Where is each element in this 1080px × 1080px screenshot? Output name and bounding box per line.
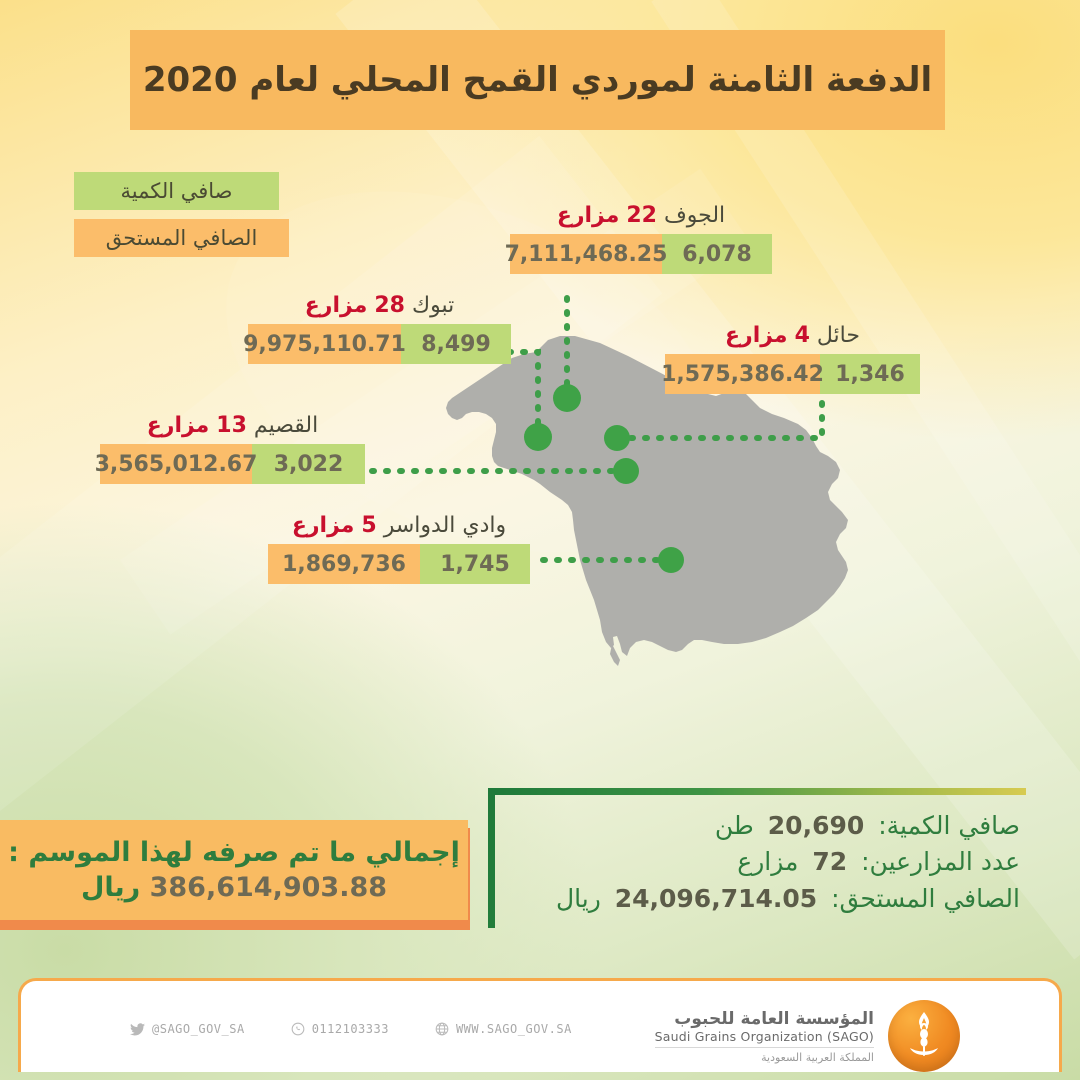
region-name: حائل	[817, 323, 860, 348]
region-bars: 3,022 3,565,012.67	[100, 444, 365, 484]
connector-tabuk	[510, 352, 538, 437]
region-net-due: 9,975,110.71	[248, 324, 401, 364]
twitter-icon	[130, 1023, 145, 1036]
region-net-due: 1,869,736	[268, 544, 420, 584]
region-farms-count: 22	[626, 203, 657, 228]
map-dot-jouf	[553, 384, 581, 412]
phone-number: 0112103333	[312, 1022, 389, 1036]
region-farms-count: 13	[216, 413, 247, 438]
summary-due-label: الصافي المستحق:	[831, 884, 1020, 913]
summary-row-due: الصافي المستحق: 24,096,714.05 ريال	[556, 881, 1020, 917]
website-url: WWW.SAGO_GOV.SA	[456, 1022, 572, 1036]
sago-logo: المؤسسة العامة للحبوب Saudi Grains Organ…	[655, 1000, 960, 1072]
season-total-label: إجمالي ما تم صرفه لهذا الموسم :	[8, 837, 460, 868]
region-farms-count: 28	[374, 293, 405, 318]
region-farms-count: 4	[795, 323, 810, 348]
map-dot-qassim	[613, 458, 639, 484]
summary-quantity-value: 20,690	[768, 811, 864, 840]
region-net-quantity: 1,346	[820, 354, 920, 394]
region-card-tabuk: تبوك 28 مزارع 8,499 9,975,110.71	[248, 293, 511, 364]
region-name: الجوف	[664, 203, 725, 228]
summary-row-quantity: صافي الكمية: 20,690 طن	[556, 808, 1020, 844]
region-farms-word: مزارع	[292, 513, 355, 538]
region-card-wadi-aldawasir: وادي الدواسر 5 مزارع 1,745 1,869,736	[268, 513, 530, 584]
region-label-qassim: القصيم 13 مزارع	[100, 413, 365, 438]
summary-due-value: 24,096,714.05	[615, 884, 817, 913]
region-label-wadi-aldawasir: وادي الدواسر 5 مزارع	[268, 513, 530, 538]
region-net-quantity: 3,022	[252, 444, 365, 484]
region-label-jouf: الجوف 22 مزارع	[510, 203, 772, 228]
region-label-tabuk: تبوك 28 مزارع	[248, 293, 511, 318]
region-net-due: 3,565,012.67	[100, 444, 252, 484]
region-bars: 1,745 1,869,736	[268, 544, 530, 584]
region-card-jouf: الجوف 22 مزارع 6,078 7,111,468.25	[510, 203, 772, 274]
sago-country: المملكة العربية السعودية	[655, 1047, 874, 1064]
region-net-quantity: 6,078	[662, 234, 772, 274]
region-label-hail: حائل 4 مزارع	[665, 323, 920, 348]
region-net-due: 7,111,468.25	[510, 234, 662, 274]
footer-contacts: @SAGO_GOV_SA 0112103333 WWW.SAGO_GOV.SA	[130, 1022, 572, 1036]
legend: صافي الكمية الصافي المستحق	[74, 172, 289, 257]
map-dots	[524, 384, 684, 573]
season-total-value-row: 386,614,903.88 ريال	[81, 872, 387, 903]
season-total-currency: ريال	[81, 872, 140, 903]
region-bars: 8,499 9,975,110.71	[248, 324, 511, 364]
summary-row-farmers: عدد المزارعين: 72 مزارع	[556, 844, 1020, 880]
summary-farmers-label: عدد المزارعين:	[861, 847, 1020, 876]
infographic-poster: الدفعة الثامنة لموردي القمح المحلي لعام …	[0, 0, 1080, 1080]
summary-farmers-value: 72	[812, 847, 847, 876]
twitter-handle: @SAGO_GOV_SA	[152, 1022, 245, 1036]
summary-due-unit: ريال	[556, 884, 601, 913]
page-title: الدفعة الثامنة لموردي القمح المحلي لعام …	[143, 60, 932, 100]
region-net-quantity: 1,745	[420, 544, 530, 584]
sago-name-en: Saudi Grains Organization (SAGO)	[655, 1029, 874, 1044]
contact-phone[interactable]: 0112103333	[291, 1022, 389, 1036]
region-farms-word: مزارع	[305, 293, 368, 318]
summary-panel: صافي الكمية: 20,690 طن عدد المزارعين: 72…	[488, 788, 1026, 928]
region-farms-word: مزارع	[557, 203, 620, 228]
region-card-qassim: القصيم 13 مزارع 3,022 3,565,012.67	[100, 413, 365, 484]
legend-item-quantity: صافي الكمية	[74, 172, 279, 210]
sago-name-ar: المؤسسة العامة للحبوب	[655, 1009, 874, 1029]
season-total-box: إجمالي ما تم صرفه لهذا الموسم : 386,614,…	[0, 820, 468, 920]
region-name: وادي الدواسر	[384, 513, 506, 538]
title-banner: الدفعة الثامنة لموردي القمح المحلي لعام …	[130, 30, 945, 130]
contact-twitter[interactable]: @SAGO_GOV_SA	[130, 1022, 245, 1036]
legend-item-due: الصافي المستحق	[74, 219, 289, 257]
sago-logo-text: المؤسسة العامة للحبوب Saudi Grains Organ…	[655, 1009, 874, 1064]
decor-streak	[651, 0, 1080, 924]
map-dot-wadi	[658, 547, 684, 573]
region-bars: 1,346 1,575,386.42	[665, 354, 920, 394]
wheat-palm-swords-icon	[902, 1010, 946, 1062]
map-dot-tabuk	[524, 423, 552, 451]
region-farms-count: 5	[361, 513, 376, 538]
region-name: تبوك	[412, 293, 454, 318]
region-net-due: 1,575,386.42	[665, 354, 820, 394]
whatsapp-icon	[291, 1022, 305, 1036]
summary-quantity-unit: طن	[715, 811, 754, 840]
region-name: القصيم	[254, 413, 318, 438]
map-tail-detail	[610, 644, 620, 666]
summary-farmers-unit: مزارع	[737, 847, 798, 876]
contact-website[interactable]: WWW.SAGO_GOV.SA	[435, 1022, 572, 1036]
summary-quantity-label: صافي الكمية:	[878, 811, 1020, 840]
map-dot-hail	[604, 425, 630, 451]
globe-icon	[435, 1022, 449, 1036]
summary-rows: صافي الكمية: 20,690 طن عدد المزارعين: 72…	[556, 808, 1020, 917]
season-total-value: 386,614,903.88	[150, 872, 387, 903]
sago-logo-mark	[888, 1000, 960, 1072]
region-farms-word: مزارع	[725, 323, 788, 348]
region-net-quantity: 8,499	[401, 324, 511, 364]
region-farms-word: مزارع	[147, 413, 210, 438]
region-card-hail: حائل 4 مزارع 1,346 1,575,386.42	[665, 323, 920, 394]
region-bars: 6,078 7,111,468.25	[510, 234, 772, 274]
